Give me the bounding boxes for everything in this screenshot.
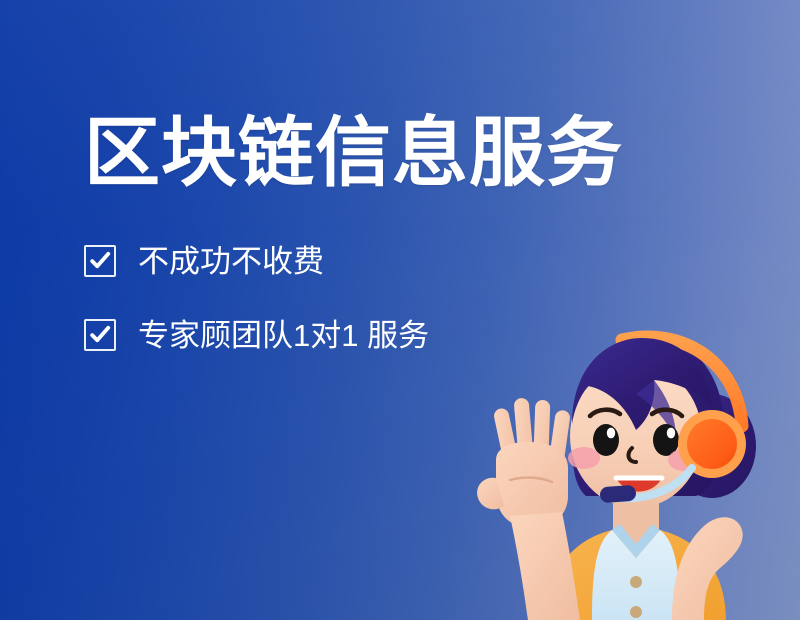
- agent-waving-hand: [477, 397, 580, 620]
- blush-left: [568, 447, 600, 469]
- page-title: 区块链信息服务: [84, 116, 704, 192]
- forearm: [510, 512, 580, 620]
- eye-highlight-left: [607, 428, 615, 439]
- checkbox-checked[interactable]: [84, 319, 116, 351]
- check-icon: [89, 250, 111, 272]
- customer-service-agent-illustration: [476, 320, 800, 620]
- checkbox-checked[interactable]: [84, 245, 116, 277]
- check-icon: [89, 324, 111, 346]
- mic-tip: [599, 485, 636, 503]
- eye-left: [593, 424, 619, 456]
- list-item: 不成功不收费: [84, 238, 704, 284]
- shirt-button: [630, 606, 642, 618]
- eye-highlight-right: [667, 428, 675, 439]
- promo-banner: 区块链信息服务 不成功不收费 专家顾团队1对1 服务: [0, 0, 800, 620]
- shirt-button: [630, 576, 642, 588]
- list-item-label: 专家顾团队1对1 服务: [138, 320, 429, 351]
- list-item-label: 不成功不收费: [138, 246, 324, 277]
- earcup-inner: [687, 419, 737, 469]
